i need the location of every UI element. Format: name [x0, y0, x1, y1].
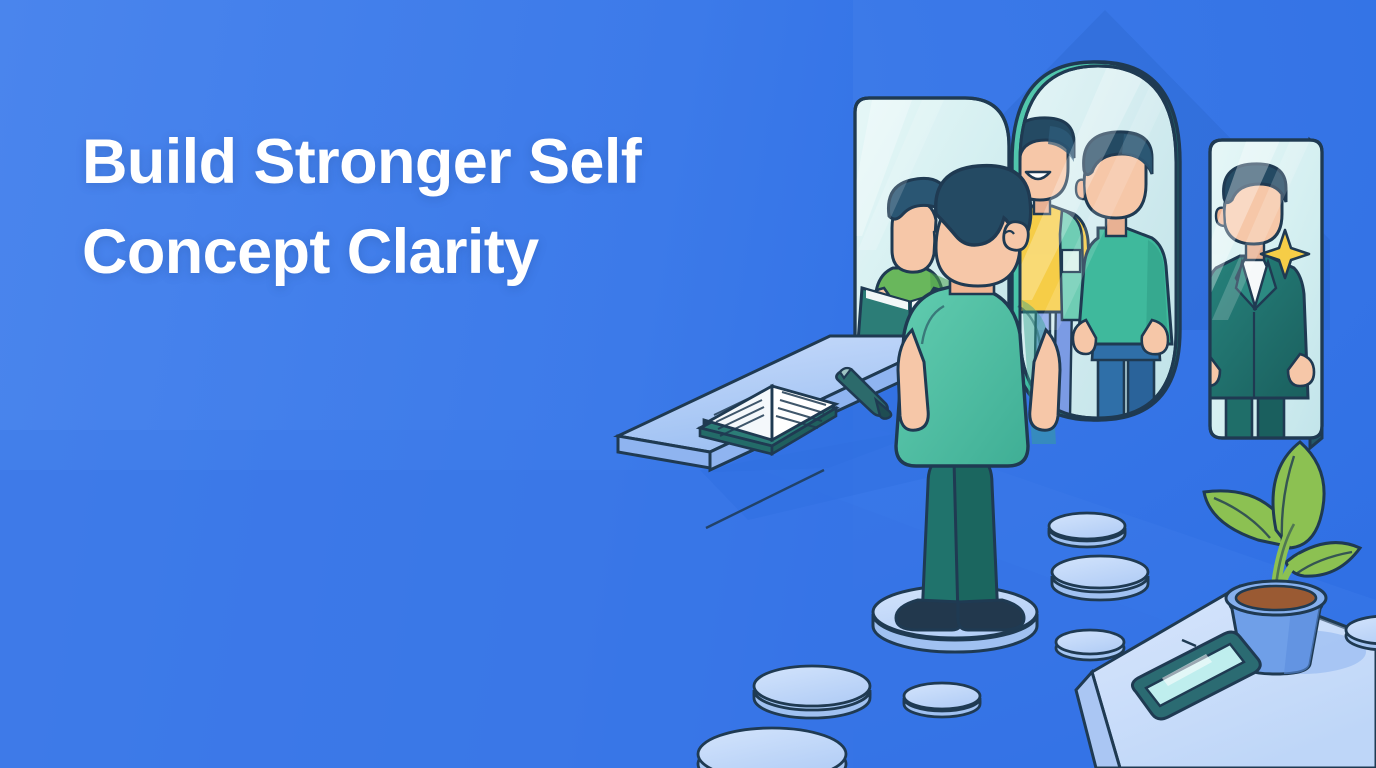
stepping-stone	[1056, 630, 1124, 660]
stepping-stone	[754, 666, 870, 718]
stepping-stone	[1052, 556, 1148, 600]
page-title: Build Stronger Self Concept Clarity	[82, 118, 822, 297]
hero-banner: Build Stronger Self Concept Clarity	[0, 0, 1376, 768]
stepping-stone	[1049, 513, 1125, 547]
mirror-right-professional	[1190, 136, 1322, 448]
stepping-stone	[904, 683, 980, 717]
stepping-stone	[698, 728, 846, 768]
illustration-self-concept-mirrors	[0, 0, 1376, 768]
